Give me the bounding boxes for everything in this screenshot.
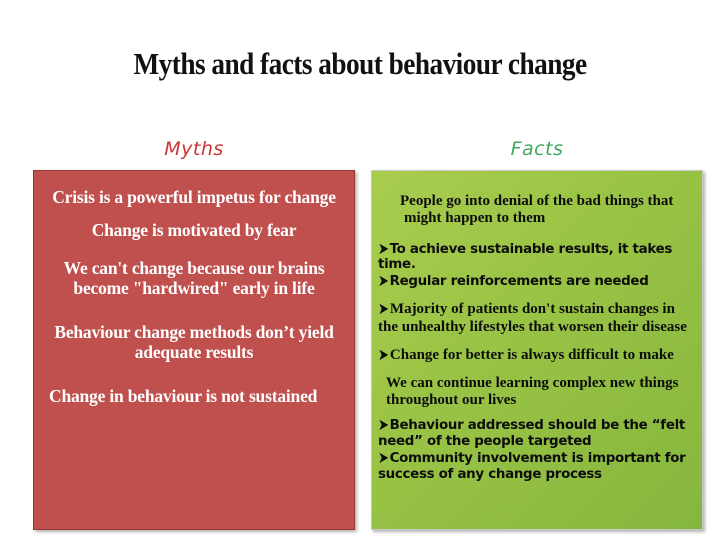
fact-list-item: We can continue learning complex new thi… bbox=[378, 375, 696, 410]
fact-list-item: ➤Change for better is always difficult t… bbox=[378, 347, 696, 364]
column-header-myths: Myths bbox=[33, 138, 355, 160]
myths-panel: Crisis is a powerful impetus for change … bbox=[33, 170, 355, 530]
myth-list-item: Crisis is a powerful impetus for change bbox=[41, 188, 347, 208]
fact-text: Majority of patients don't sustain chang… bbox=[378, 301, 687, 334]
fact-list-item: ➤Behaviour addressed should be the “felt… bbox=[378, 418, 696, 449]
fact-list-item: ➤To achieve sustainable results, it take… bbox=[378, 242, 696, 273]
arrow-bullet-icon: ➤ bbox=[378, 346, 389, 365]
fact-list-item: ➤Regular reinforcements are needed bbox=[378, 274, 696, 290]
facts-panel: People go into denial of the bad things … bbox=[371, 170, 703, 530]
arrow-bullet-icon: ➤ bbox=[378, 240, 389, 259]
myth-list-item: Change in behaviour is not sustained bbox=[41, 387, 347, 407]
arrow-bullet-icon: ➤ bbox=[378, 450, 389, 469]
fact-list-item: ➤Community involvement is important for … bbox=[378, 451, 696, 482]
slide-canvas: Myths and facts about behaviour change M… bbox=[0, 0, 720, 540]
fact-text: People go into denial of the bad things … bbox=[400, 193, 673, 226]
myth-list-item: Change is motivated by fear bbox=[41, 221, 347, 241]
fact-text: To achieve sustainable results, it takes… bbox=[378, 242, 672, 273]
fact-text: We can continue learning complex new thi… bbox=[386, 375, 679, 408]
fact-list-item: People go into denial of the bad things … bbox=[378, 193, 696, 228]
fact-text: Regular reinforcements are needed bbox=[390, 274, 649, 289]
column-header-facts: Facts bbox=[371, 138, 703, 160]
fact-text: Behaviour addressed should be the “felt … bbox=[378, 418, 685, 449]
arrow-bullet-icon: ➤ bbox=[378, 416, 389, 435]
page-title: Myths and facts about behaviour change bbox=[43, 46, 677, 82]
myth-list-item: Behaviour change methods don’t yield ade… bbox=[41, 323, 347, 362]
fact-list-item: ➤Majority of patients don't sustain chan… bbox=[378, 301, 696, 336]
fact-text: Change for better is always difficult to… bbox=[390, 347, 674, 363]
fact-text: Community involvement is important for s… bbox=[378, 451, 685, 482]
arrow-bullet-icon: ➤ bbox=[378, 272, 389, 291]
myth-list-item: We can't change because our brains becom… bbox=[41, 259, 347, 298]
arrow-bullet-icon: ➤ bbox=[378, 301, 389, 320]
